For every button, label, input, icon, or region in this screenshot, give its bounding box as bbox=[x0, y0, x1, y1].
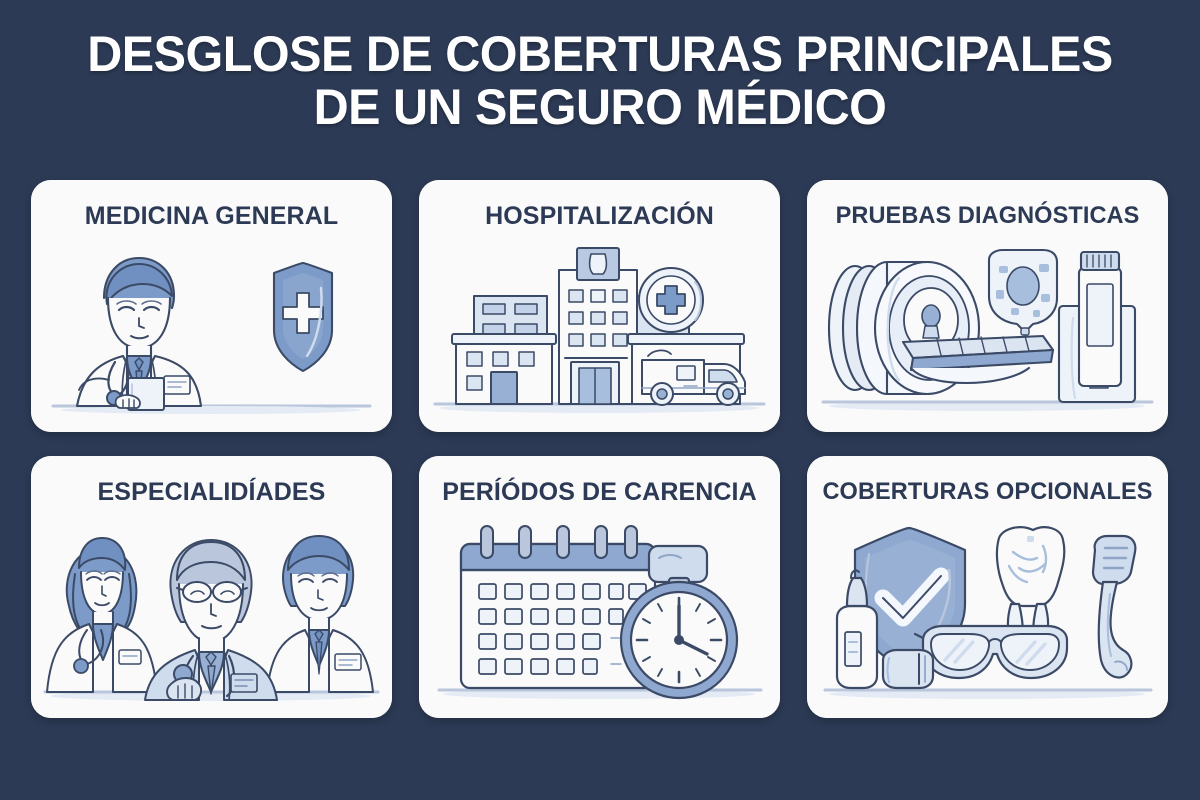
card-hospitalizacion[interactable]: HOSPITALIZACIÓN bbox=[419, 180, 780, 432]
coverage-card-grid: MEDICINA GENERAL bbox=[31, 180, 1170, 718]
card-periodos-de-carencia[interactable]: PERÍÓDOS DE CARENCIA bbox=[419, 456, 780, 718]
illustration-optional-coverage-items bbox=[807, 514, 1168, 706]
card-title-hospitalizacion: HOSPITALIZACIÓN bbox=[405, 202, 794, 231]
card-coberturas-opcionales[interactable]: COBERTURAS OPCIONALES bbox=[807, 456, 1168, 718]
card-pruebas-diagnosticas[interactable]: PRUEBAS DIAGNÓSTICAS bbox=[807, 180, 1168, 432]
card-medicina-general[interactable]: MEDICINA GENERAL bbox=[31, 180, 392, 432]
illustration-calendar-with-clock bbox=[419, 514, 780, 706]
illustration-doctor-with-shield bbox=[31, 238, 392, 420]
illustration-mri-scanner-and-samples bbox=[807, 238, 1168, 420]
card-title-pruebas-diagnosticas: PRUEBAS DIAGNÓSTICAS bbox=[797, 202, 1178, 230]
card-title-medicina-general: MEDICINA GENERAL bbox=[17, 202, 406, 231]
page-title-line-2: DE UN SEGURO MÉDICO bbox=[18, 81, 1182, 134]
card-title-coberturas-opcionales: COBERTURAS OPCIONALES bbox=[797, 478, 1178, 506]
illustration-hospital-with-ambulance bbox=[419, 238, 780, 420]
card-title-periodos-de-carencia: PERÍÓDOS DE CARENCIA bbox=[405, 478, 794, 507]
page-title: DESGLOSE DE COBERTURAS PRINCIPALES DE UN… bbox=[0, 28, 1200, 134]
page-title-line-1: DESGLOSE DE COBERTURAS PRINCIPALES bbox=[18, 28, 1182, 81]
card-especialidades[interactable]: ESPECIALIDÍADES bbox=[31, 456, 392, 718]
illustration-three-specialists bbox=[31, 514, 392, 706]
card-title-especialidades: ESPECIALIDÍADES bbox=[17, 478, 406, 507]
